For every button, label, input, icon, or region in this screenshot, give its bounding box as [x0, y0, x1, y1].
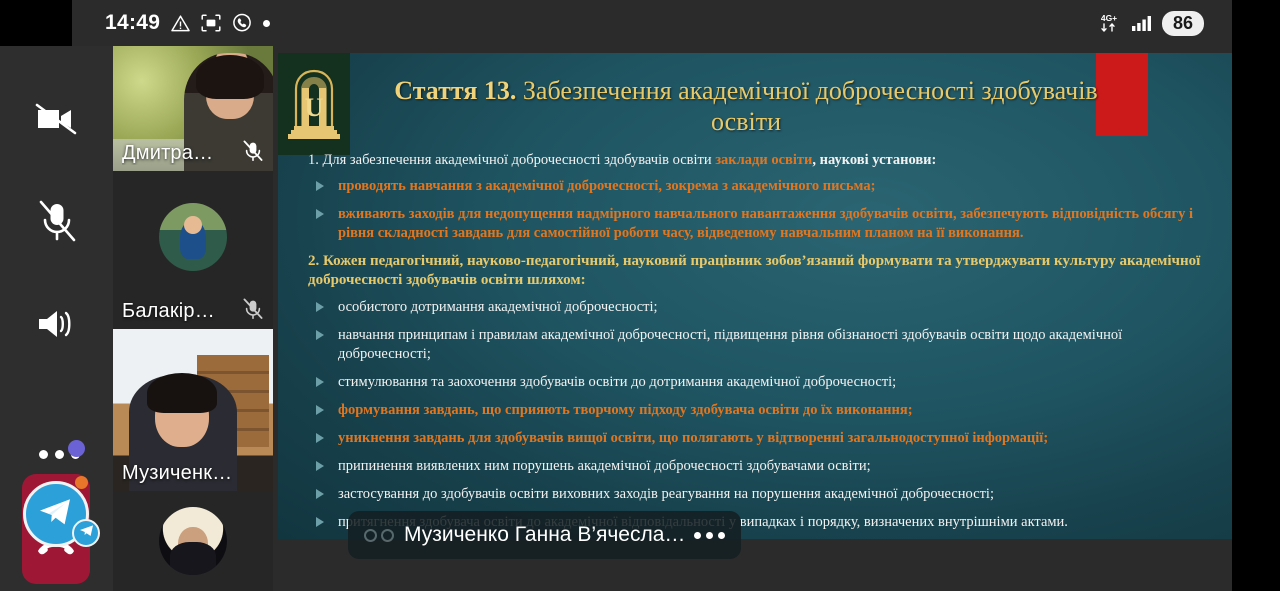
avatar [159, 203, 227, 271]
slide-bullet: стимулювання та заохочення здобувачів ос… [308, 373, 1206, 392]
slide-paragraph-1: 1. Для забезпечення академічної доброчес… [308, 151, 1206, 170]
screen-edge-filler [1232, 0, 1280, 591]
camera-off-icon [34, 102, 80, 141]
participant-strip[interactable]: Дмитра… Балакір… [113, 46, 273, 591]
screenshot-icon [201, 14, 221, 32]
participant-tile[interactable]: Балакір… [113, 171, 273, 329]
slide-bullet: проводять навчання з академічної доброче… [308, 177, 1206, 196]
status-bar: 14:49 [72, 0, 1232, 46]
presentation-slide: U Стаття 13. Забезпечення академічної до… [278, 53, 1232, 539]
signal-bars-icon [1131, 14, 1153, 32]
status-bar-left: 14:49 [105, 11, 270, 35]
clock: 14:49 [105, 11, 160, 35]
status-bar-right: 4G+ 86 [1096, 11, 1204, 36]
participant-tile[interactable]: Дмитра… [113, 46, 273, 171]
slide-title-rest: Забезпечення академічної доброчесності з… [516, 76, 1097, 136]
viber-call-icon [232, 13, 252, 33]
paragraph-1-tail: , наукові установи: [812, 152, 936, 168]
call-controls-bar [0, 46, 113, 591]
speaker-button[interactable] [0, 291, 113, 361]
slide-bullet: навчання принципам і правилам академічно… [308, 326, 1206, 364]
telegram-small-icon [79, 524, 94, 542]
participant-tile-active-speaker[interactable]: Музиченк… [113, 329, 273, 491]
avatar [159, 507, 227, 575]
slide-title-bold: Стаття 13. [394, 76, 516, 105]
slide-body: 1. Для забезпечення академічної доброчес… [308, 151, 1206, 539]
slide-bullet: припинення виявлених ним порушень академ… [308, 457, 1206, 476]
speaker-icon [35, 306, 79, 347]
more-options-button[interactable] [694, 532, 725, 539]
participant-name: Балакір… [122, 300, 215, 323]
dot-indicator [263, 20, 270, 27]
slide-bullet: застосування до здобувачів освіти виховн… [308, 485, 1206, 504]
paragraph-1-highlight: заклади освіти [715, 152, 812, 168]
slide-title: Стаття 13. Забезпечення академічної добр… [366, 75, 1126, 137]
slide-paragraph-2: 2. Кожен педагогічний, науково-педагогіч… [308, 252, 1206, 290]
active-speaker-bar[interactable]: Музиченко Ганна В’ячесла… [348, 511, 741, 559]
battery-level: 86 [1162, 11, 1204, 36]
participant-muted-icon [242, 140, 264, 162]
screen: 14:49 [0, 0, 1280, 591]
participant-muted-icon [242, 298, 264, 320]
telegram-mini-badge[interactable] [72, 519, 100, 547]
speaker-status-icon [364, 529, 394, 542]
microphone-off-button[interactable] [0, 189, 113, 259]
purple-dot-indicator [68, 440, 85, 457]
active-speaker-name: Музиченко Ганна В’ячесла… [404, 523, 684, 547]
university-emblem-icon: U [278, 53, 350, 155]
telegram-icon [38, 496, 74, 533]
paragraph-1-lead: 1. Для забезпечення академічної доброчес… [308, 152, 715, 168]
warning-triangle-icon [171, 15, 190, 32]
slide-bullet: вживають заходів для недопущення надмірн… [308, 205, 1206, 243]
orange-dot-indicator [75, 476, 88, 489]
participant-name: Музиченк… [122, 462, 232, 485]
microphone-off-icon [37, 200, 77, 249]
participant-name: Дмитра… [122, 142, 213, 165]
slide-bullet: формування завдань, що сприяють творчому… [308, 401, 1206, 420]
svg-text:4G+: 4G+ [1101, 13, 1117, 23]
svg-text:U: U [305, 93, 324, 122]
slide-bullet: особистого дотримання академічної доброч… [308, 298, 1206, 317]
mobile-data-4g-icon: 4G+ [1096, 12, 1122, 34]
participant-tile[interactable] [113, 491, 273, 591]
camera-off-button[interactable] [0, 86, 113, 156]
slide-bullet: уникнення завдань для здобувачів вищої о… [308, 429, 1206, 448]
shared-screen[interactable]: U Стаття 13. Забезпечення академічної до… [273, 46, 1232, 591]
